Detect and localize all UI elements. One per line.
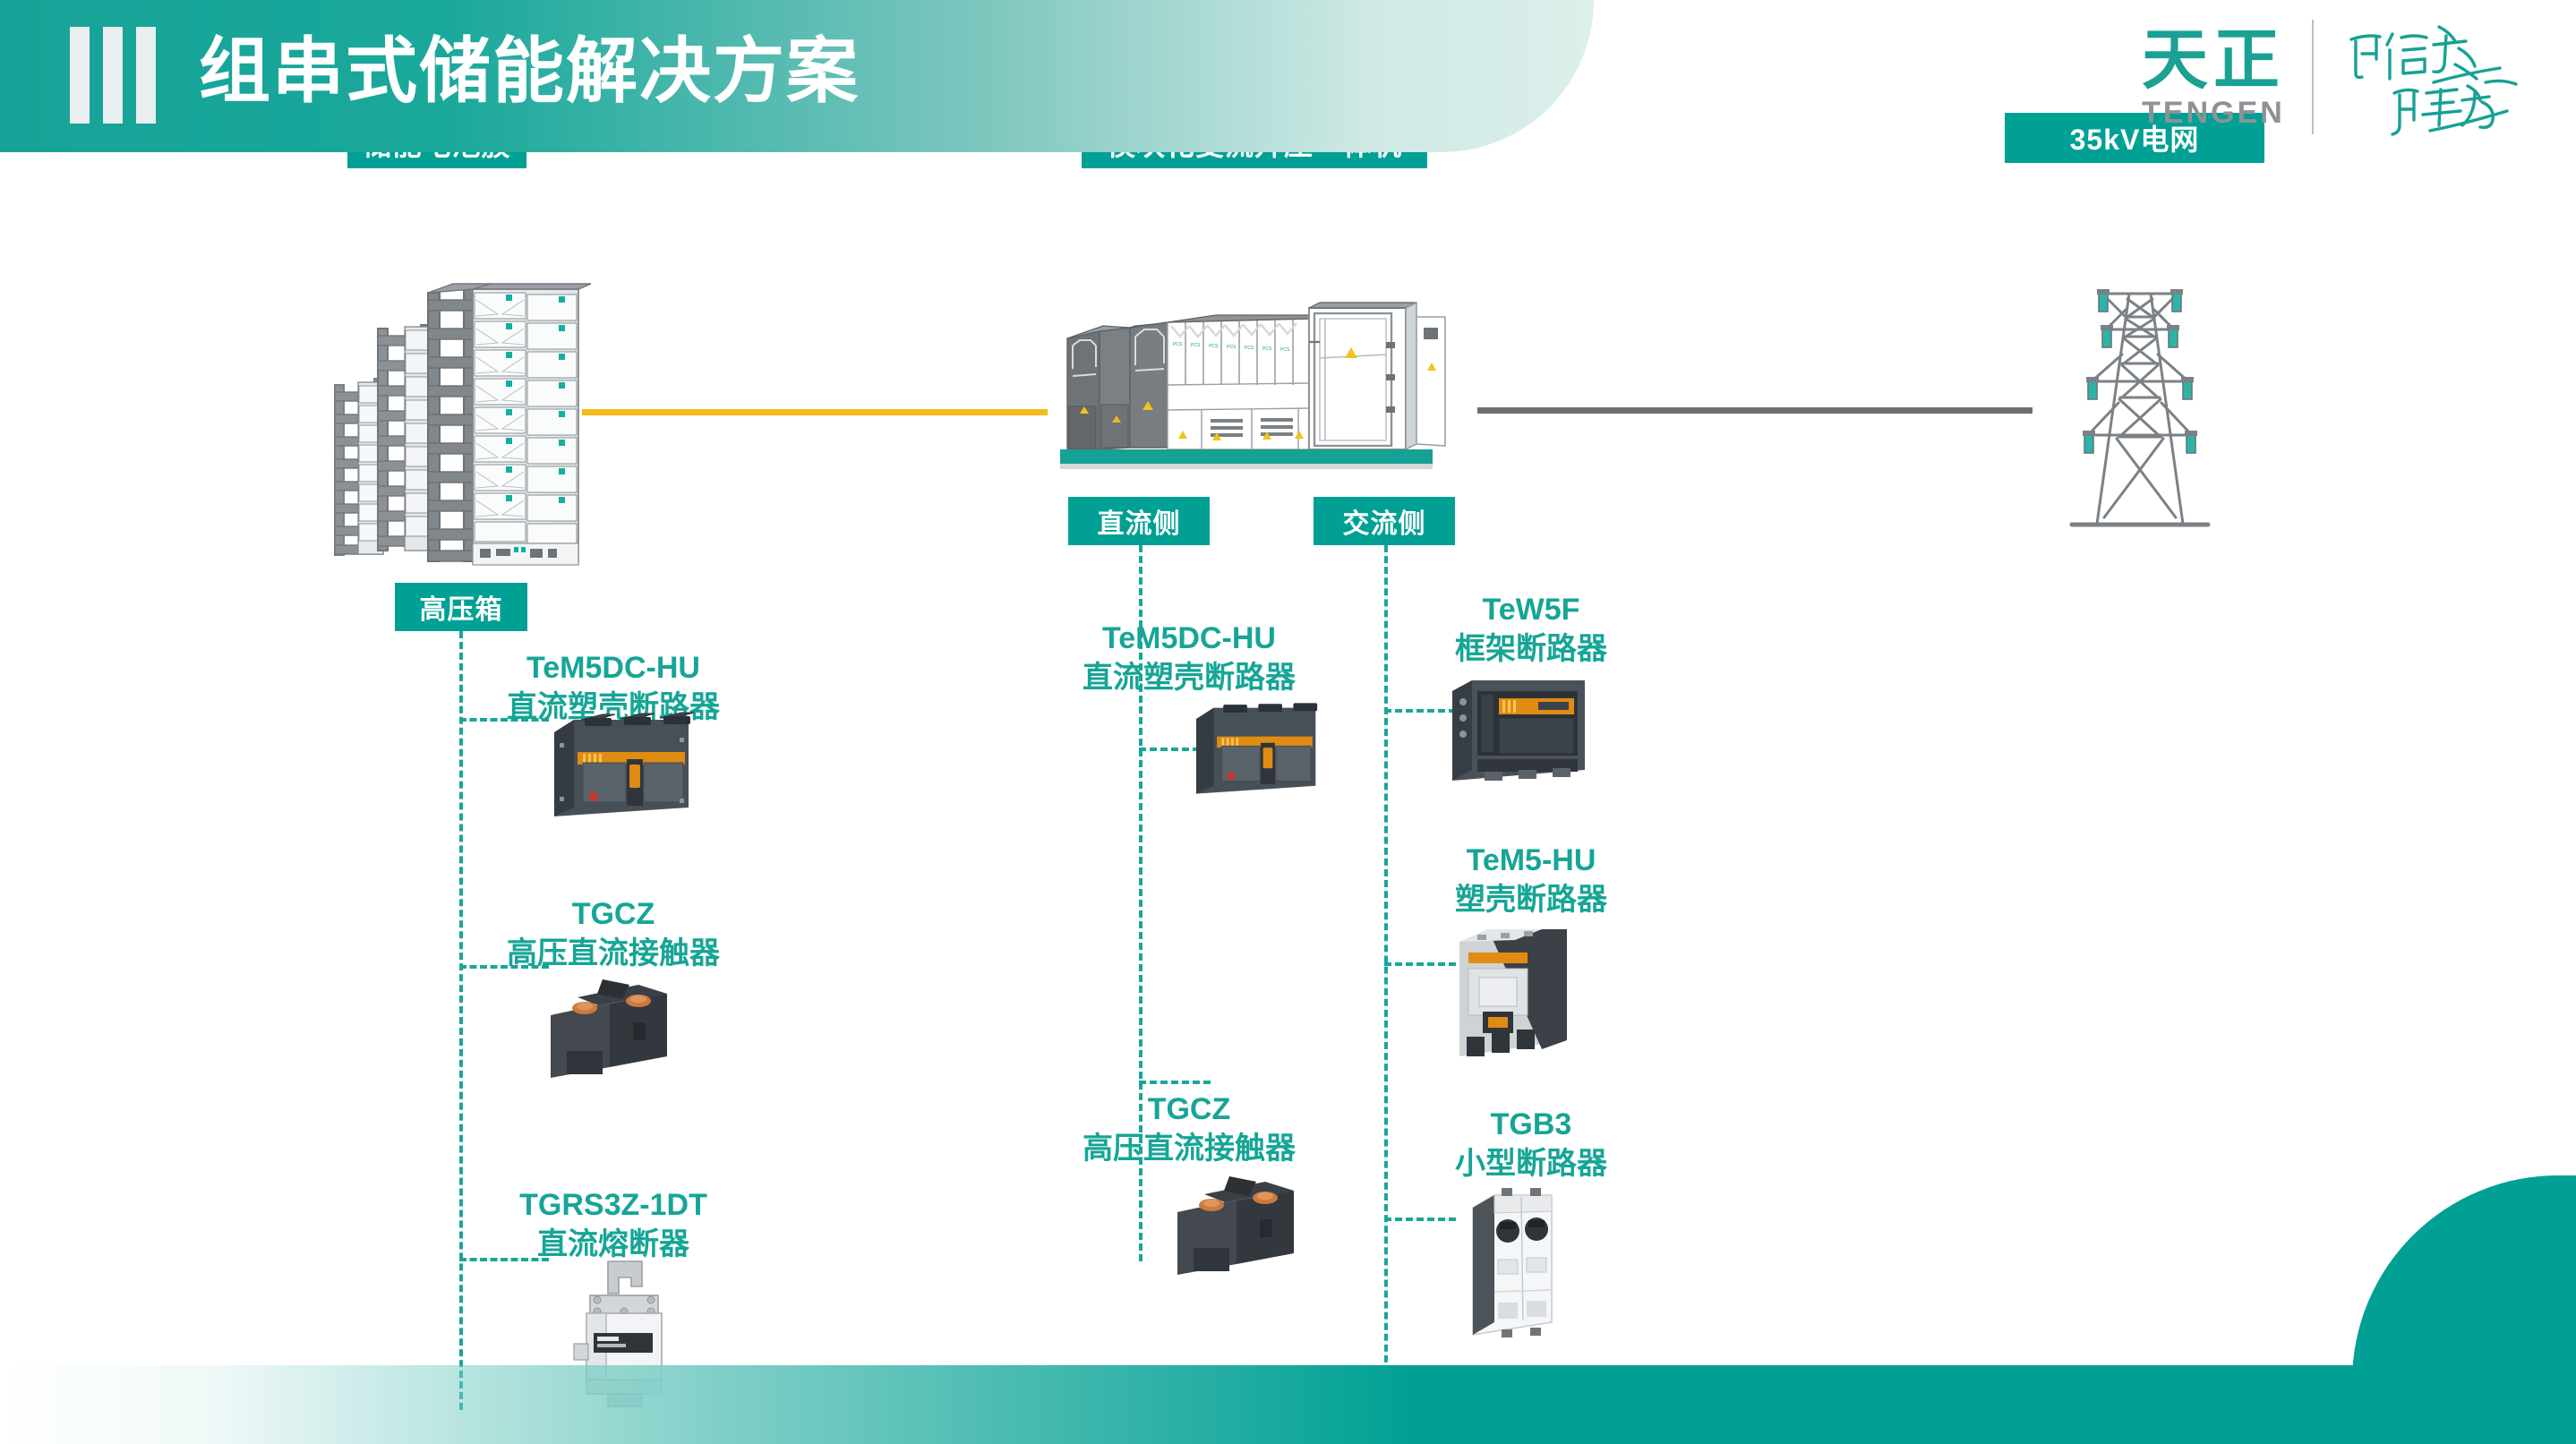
product-model: TeM5-HU — [1397, 842, 1665, 881]
dc-contactor-icon — [533, 976, 694, 1083]
product-model: TGRS3Z-1DT — [479, 1186, 748, 1226]
product-model: TeM5DC-HU — [479, 649, 748, 688]
svg-text:PCS: PCS — [1262, 346, 1272, 352]
product-caption-dc-2: TGCZ 高压直流接触器 — [1010, 1090, 1368, 1168]
product-caption-dc-1: TeM5DC-HU 直流塑壳断路器 — [1010, 619, 1368, 697]
pylon-icon — [2033, 278, 2247, 537]
svg-text:PCS: PCS — [1227, 345, 1237, 350]
brand-name-en: TENGEN — [2142, 95, 2285, 131]
product-caption-hv-3: TGRS3Z-1DT 直流熔断器 — [479, 1186, 748, 1264]
brand-divider — [2312, 20, 2314, 134]
product-model: TGB3 — [1397, 1106, 1665, 1145]
dc-contactor-icon — [1160, 1173, 1321, 1280]
product-caption-ac-2: TeM5-HU 塑壳断路器 — [1397, 842, 1665, 919]
product-desc: 框架断路器 — [1397, 630, 1665, 670]
svg-text:PCS: PCS — [1191, 343, 1201, 348]
header-bars-icon — [70, 27, 156, 124]
rail-hv-box — [459, 631, 463, 1410]
container-icon: PCSPCSPCS PCSPCSPCS PCS — [1040, 295, 1452, 474]
svg-text:PCS: PCS — [1280, 347, 1290, 353]
product-desc: 高压直流接触器 — [1010, 1130, 1368, 1169]
label-hv-box: 高压箱 — [395, 583, 527, 631]
brand-mark: 天正 TENGEN — [2142, 23, 2285, 131]
mcb-icon — [1455, 1186, 1571, 1347]
label-ac-side: 交流侧 — [1314, 497, 1455, 545]
mccb-ac-icon — [1442, 922, 1576, 1065]
branch-dc-2 — [1139, 1081, 1211, 1084]
svg-text:PCS: PCS — [1209, 344, 1219, 349]
branch-ac-3 — [1384, 1218, 1456, 1221]
ac-bus-wire — [1477, 407, 2033, 414]
svg-text:PCS: PCS — [1245, 346, 1254, 351]
product-desc: 直流塑壳断路器 — [1010, 659, 1368, 698]
product-model: TeM5DC-HU — [1010, 619, 1368, 659]
mccb-dc-icon — [538, 707, 699, 824]
product-model: TeW5F — [1397, 591, 1665, 630]
brand-name-cn: 天正 — [2142, 23, 2285, 97]
page-title: 组串式储能解决方案 — [199, 18, 860, 125]
diagram-stage: 储能电池簇 模块化变流升压一体机 35kV电网 高压箱 直流侧 交流侧 — [0, 152, 2576, 1444]
svg-text:PCS: PCS — [1173, 342, 1183, 347]
product-model: TGCZ — [479, 895, 748, 935]
product-desc: 高压直流接触器 — [479, 935, 748, 974]
product-caption-ac-3: TGB3 小型断路器 — [1397, 1106, 1665, 1183]
label-dc-side: 直流侧 — [1068, 497, 1210, 545]
product-caption-ac-1: TeW5F 框架断路器 — [1397, 591, 1665, 669]
product-desc: 小型断路器 — [1397, 1145, 1665, 1184]
rail-ac-side — [1384, 545, 1388, 1373]
mccb-dc-icon — [1182, 696, 1325, 800]
footer-gradient-bar — [0, 1365, 2576, 1444]
product-desc: 塑壳断路器 — [1397, 881, 1665, 920]
dc-bus-wire — [582, 409, 1048, 415]
product-caption-hv-2: TGCZ 高压直流接触器 — [479, 895, 748, 973]
brand-logo: 天正 TENGEN — [2142, 14, 2524, 140]
page-header: 组串式储能解决方案 — [0, 0, 1594, 152]
acb-icon — [1433, 671, 1594, 788]
battery-rack-icon — [322, 273, 591, 586]
brand-slogan-icon — [2341, 14, 2524, 140]
product-model: TGCZ — [1010, 1090, 1368, 1130]
